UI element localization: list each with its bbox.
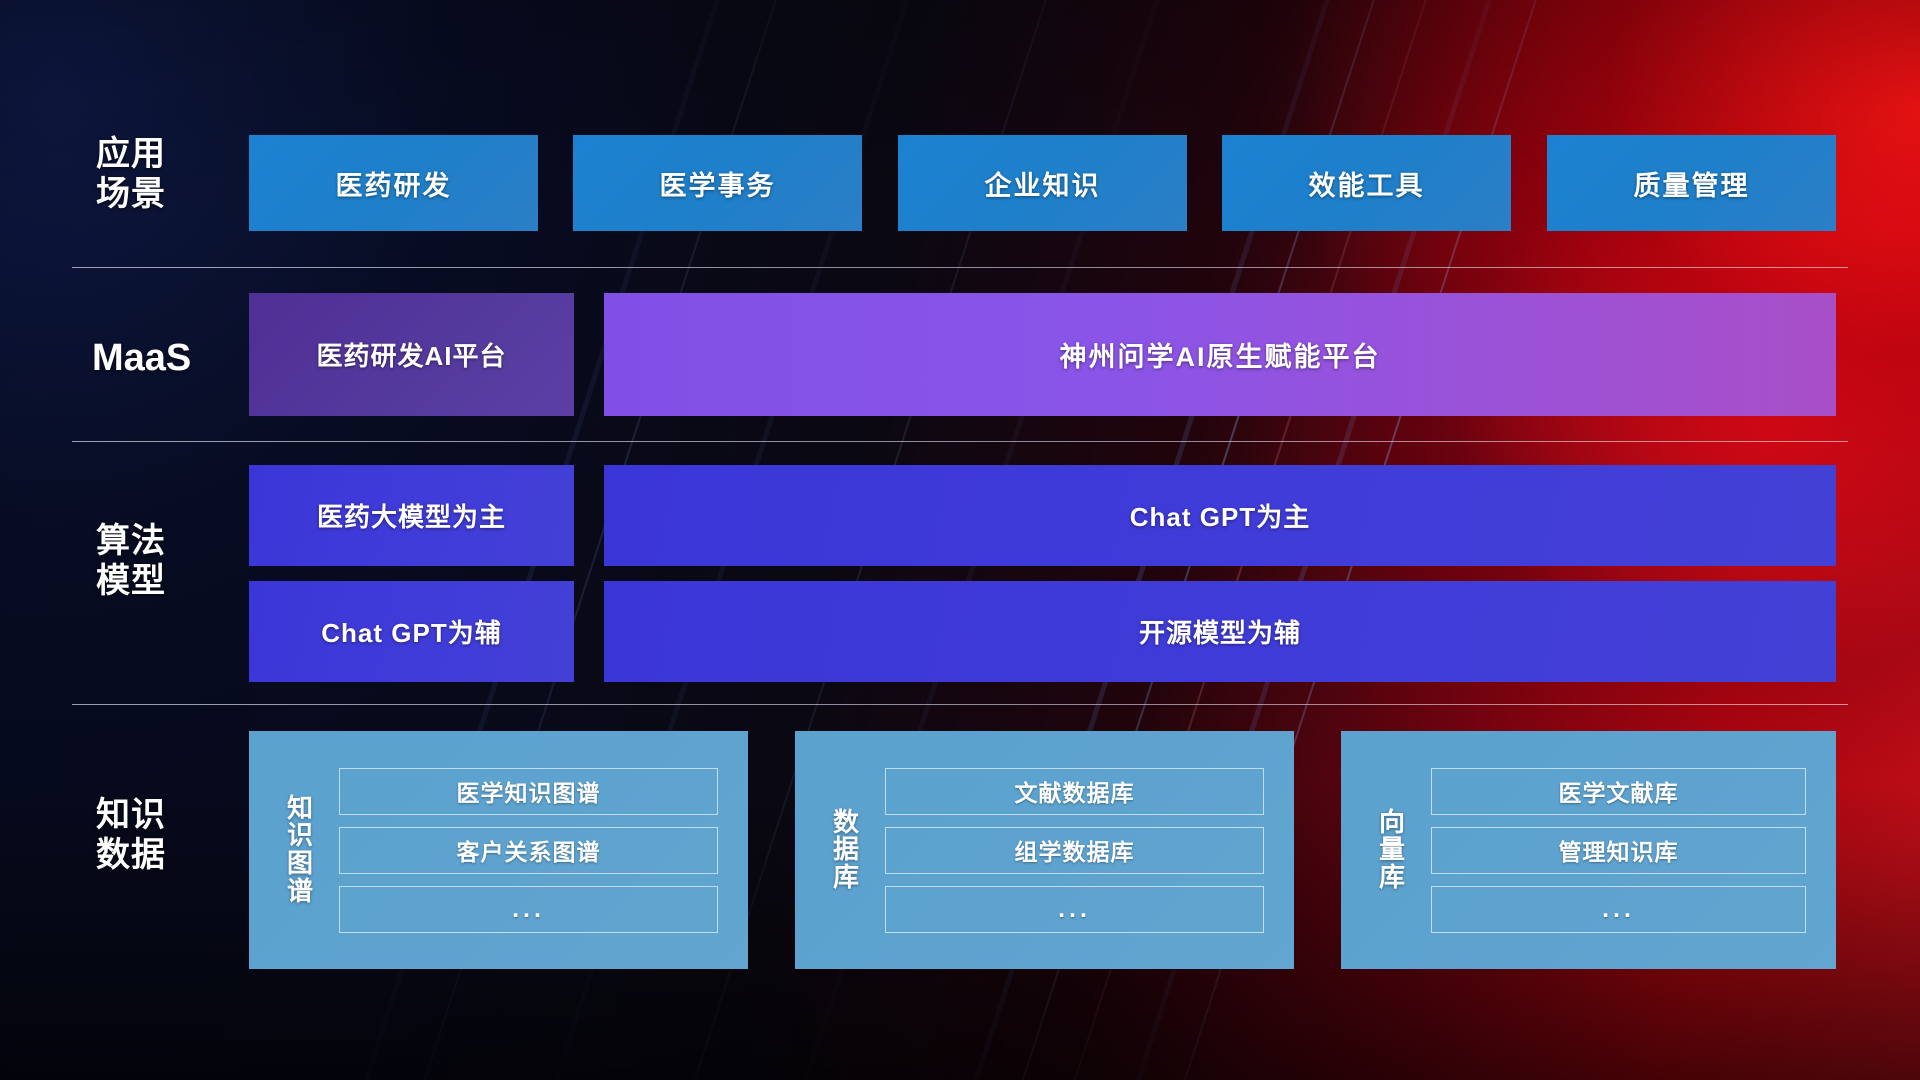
knowledge-group-2[interactable]: 向 量 库 医学文献库 管理知识库 ... bbox=[1341, 731, 1836, 969]
maas-left-box[interactable]: 医药研发AI平台 bbox=[249, 293, 574, 416]
algo-box-label: 开源模型为辅 bbox=[1139, 613, 1301, 650]
maas-right-label: 神州问学AI原生赋能平台 bbox=[1060, 335, 1381, 374]
knowledge-item-more[interactable]: ... bbox=[339, 886, 718, 933]
algo-box-label: 医药大模型为主 bbox=[317, 497, 506, 534]
knowledge-group-vertical-label: 数 据 库 bbox=[823, 809, 869, 892]
knowledge-item-label: 医学文献库 bbox=[1559, 774, 1679, 808]
app-box-0[interactable]: 医药研发 bbox=[249, 135, 538, 231]
knowledge-group-items: 医学文献库 管理知识库 ... bbox=[1431, 768, 1806, 933]
row-label-algorithm: 算法 模型 bbox=[96, 521, 236, 601]
row-label-maas: MaaS bbox=[92, 336, 262, 381]
algo-box-label: Chat GPT为辅 bbox=[321, 613, 501, 650]
knowledge-item[interactable]: 文献数据库 bbox=[885, 768, 1264, 815]
app-box-label: 效能工具 bbox=[1309, 164, 1425, 203]
knowledge-item-label: ... bbox=[1602, 895, 1635, 924]
knowledge-group-1[interactable]: 数 据 库 文献数据库 组学数据库 ... bbox=[795, 731, 1294, 969]
knowledge-group-items: 医学知识图谱 客户关系图谱 ... bbox=[339, 768, 718, 933]
algo-left-box-0[interactable]: 医药大模型为主 bbox=[249, 465, 574, 566]
knowledge-item-label: 医学知识图谱 bbox=[457, 774, 601, 808]
knowledge-group-vertical-label: 知 识 图 谱 bbox=[277, 795, 323, 905]
row-label-knowledge: 知识 数据 bbox=[96, 795, 236, 875]
knowledge-item[interactable]: 医学知识图谱 bbox=[339, 768, 718, 815]
maas-left-label: 医药研发AI平台 bbox=[316, 336, 506, 373]
app-box-label: 医药研发 bbox=[336, 164, 452, 203]
knowledge-group-vertical-label: 向 量 库 bbox=[1369, 809, 1415, 892]
knowledge-item-label: 文献数据库 bbox=[1015, 774, 1135, 808]
knowledge-item[interactable]: 管理知识库 bbox=[1431, 827, 1806, 874]
algo-box-label: Chat GPT为主 bbox=[1130, 497, 1310, 534]
knowledge-item-label: ... bbox=[512, 895, 545, 924]
knowledge-item-more[interactable]: ... bbox=[1431, 886, 1806, 933]
app-box-4[interactable]: 质量管理 bbox=[1547, 135, 1836, 231]
knowledge-item-label: 客户关系图谱 bbox=[457, 833, 601, 867]
app-box-label: 企业知识 bbox=[985, 164, 1101, 203]
knowledge-item[interactable]: 客户关系图谱 bbox=[339, 827, 718, 874]
app-box-3[interactable]: 效能工具 bbox=[1222, 135, 1511, 231]
knowledge-item-label: ... bbox=[1058, 895, 1091, 924]
app-box-1[interactable]: 医学事务 bbox=[573, 135, 862, 231]
knowledge-group-items: 文献数据库 组学数据库 ... bbox=[885, 768, 1264, 933]
row-label-application: 应用 场景 bbox=[96, 134, 236, 214]
algo-right-box-0[interactable]: Chat GPT为主 bbox=[604, 465, 1836, 566]
knowledge-item[interactable]: 组学数据库 bbox=[885, 827, 1264, 874]
maas-right-box[interactable]: 神州问学AI原生赋能平台 bbox=[604, 293, 1836, 416]
app-box-label: 医学事务 bbox=[660, 164, 776, 203]
knowledge-item-more[interactable]: ... bbox=[885, 886, 1264, 933]
divider-1 bbox=[72, 267, 1848, 268]
divider-3 bbox=[72, 704, 1848, 705]
app-box-label: 质量管理 bbox=[1634, 164, 1750, 203]
knowledge-item-label: 管理知识库 bbox=[1559, 833, 1679, 867]
knowledge-item[interactable]: 医学文献库 bbox=[1431, 768, 1806, 815]
algo-right-box-1[interactable]: 开源模型为辅 bbox=[604, 581, 1836, 682]
app-box-2[interactable]: 企业知识 bbox=[898, 135, 1187, 231]
knowledge-group-0[interactable]: 知 识 图 谱 医学知识图谱 客户关系图谱 ... bbox=[249, 731, 748, 969]
divider-2 bbox=[72, 441, 1848, 442]
knowledge-item-label: 组学数据库 bbox=[1015, 833, 1135, 867]
algo-left-box-1[interactable]: Chat GPT为辅 bbox=[249, 581, 574, 682]
